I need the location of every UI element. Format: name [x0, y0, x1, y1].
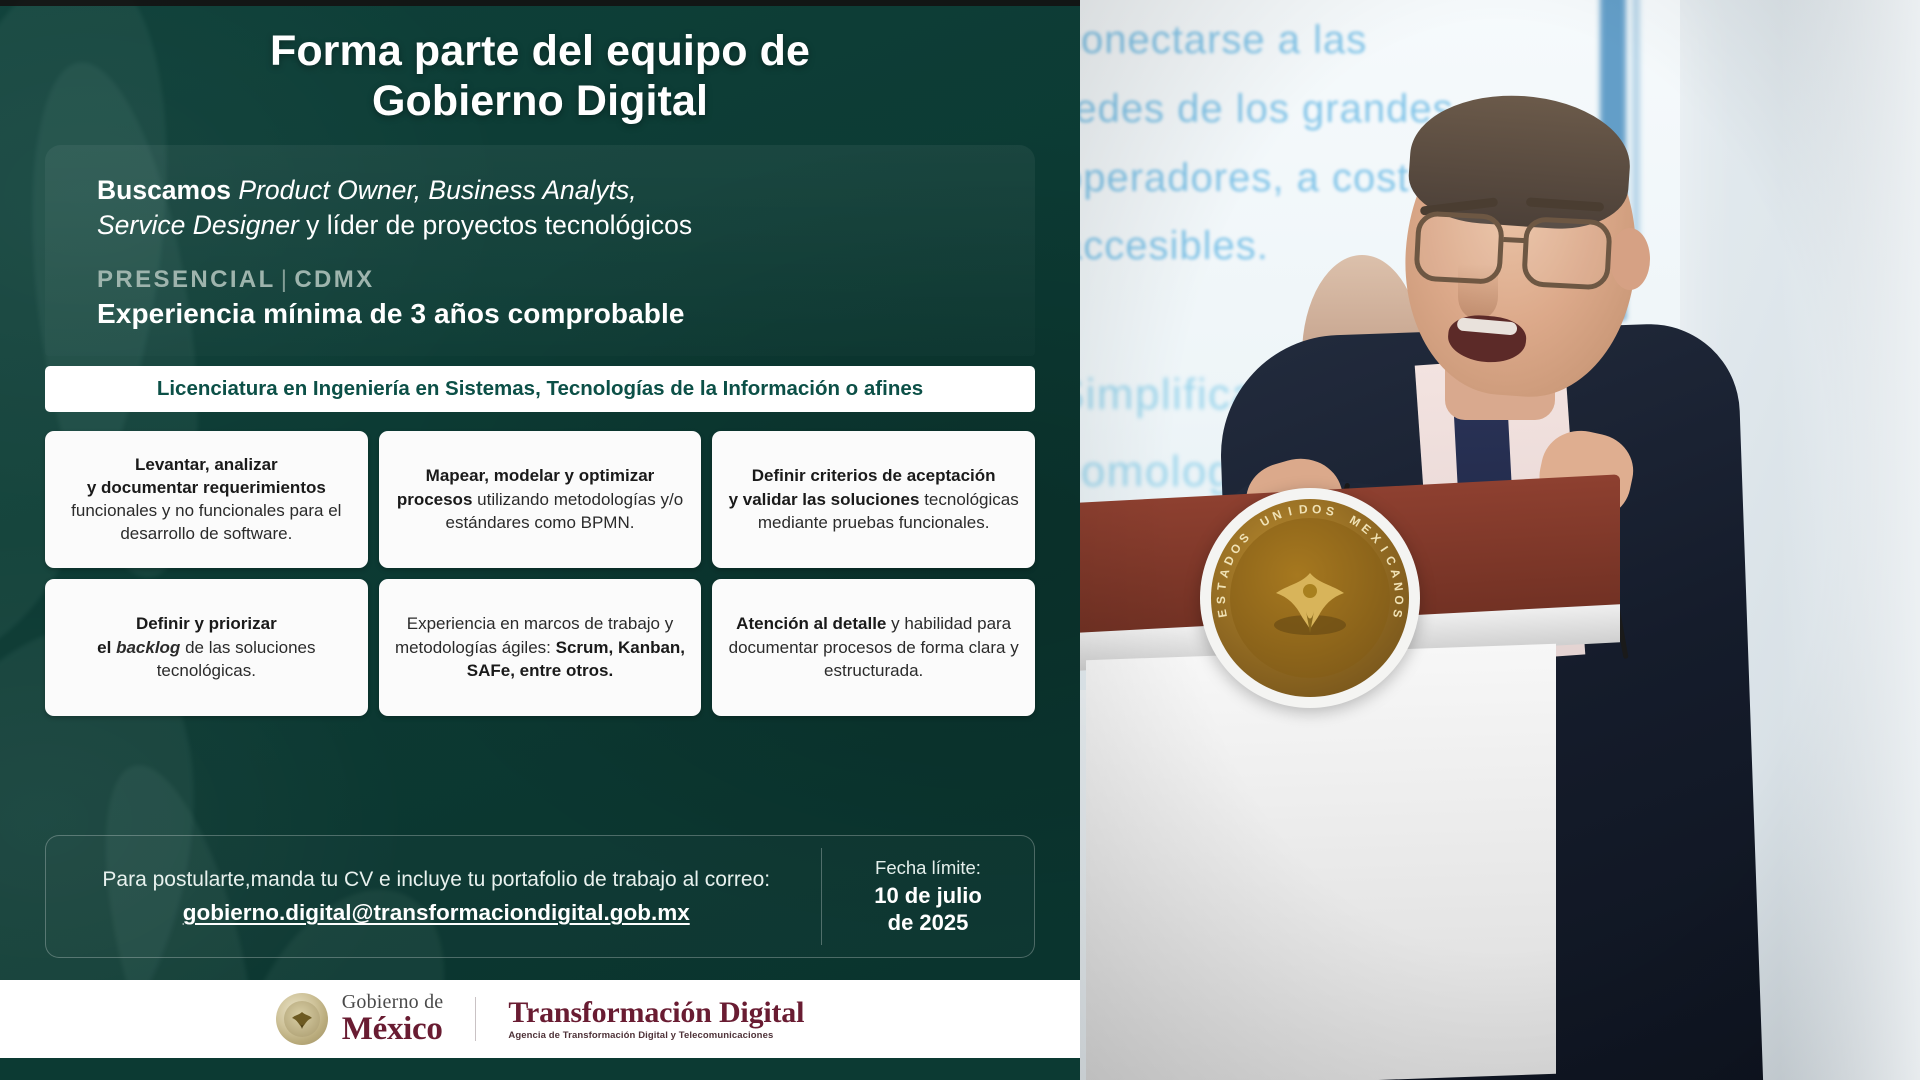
agency-subtitle: Agencia de Transformación Digital y Tele… — [508, 1031, 804, 1041]
modality-row: PRESENCIAL|CDMX — [97, 266, 983, 294]
roles-italic-1: Product Owner, Business Analyts, — [238, 175, 636, 205]
podium-seal-text: ESTADOS UNIDOS MEXICANOS — [1213, 501, 1407, 695]
podium-base — [1086, 644, 1556, 1080]
contact-instruction: Para postularte,manda tu CV e incluye tu… — [70, 866, 803, 894]
card-bold-1: Mapear, modelar y optimizar — [426, 466, 655, 485]
card-bold-2: y documentar requerimientos — [87, 478, 326, 497]
contact-message: Para postularte,manda tu CV e incluye tu… — [46, 836, 821, 957]
card-bold-1: Definir y priorizar — [136, 614, 277, 633]
application-email-link[interactable]: gobierno.digital@transformaciondigital.g… — [70, 900, 803, 926]
eyeglasses-icon — [1413, 210, 1631, 291]
gob-line-1: Gobierno de — [342, 992, 444, 1012]
contact-section: Para postularte,manda tu CV e incluye tu… — [45, 835, 1035, 980]
contact-box: Para postularte,manda tu CV e incluye tu… — [45, 835, 1035, 958]
seeking-label: Buscamos — [97, 175, 231, 205]
title-line-2: Gobierno Digital — [372, 77, 708, 125]
degree-requirement-bar: Licenciatura en Ingeniería en Sistemas, … — [45, 366, 1035, 412]
deadline-date-line-1: 10 de julio — [874, 883, 982, 908]
card-rest: utilizando metodologías y/o estándares c… — [446, 490, 684, 532]
deadline-date: 10 de julio de 2025 — [832, 882, 1024, 937]
card-text: Atención al detalle y habilidad para doc… — [728, 612, 1019, 681]
responsibility-card: Atención al detalle y habilidad para doc… — [712, 579, 1035, 716]
agency-wordmark: Transformación Digital Agencia de Transf… — [508, 997, 804, 1041]
podium-seal: ESTADOS UNIDOS MEXICANOS — [1200, 488, 1420, 708]
eagle-glyph-icon — [289, 1009, 315, 1031]
poster-body: Buscamos Product Owner, Business Analyts… — [0, 145, 1080, 980]
deadline-block: Fecha límite: 10 de julio de 2025 — [822, 836, 1034, 957]
card-bold-2: procesos — [397, 490, 473, 509]
gob-line-2: México — [342, 1013, 444, 1046]
modality-separator: | — [276, 266, 295, 293]
card-text: Levantar, analizar y documentar requerim… — [61, 453, 352, 545]
gobierno-de-mexico-wordmark: Gobierno de México — [342, 992, 444, 1046]
roles-rest: y líder de proyectos tecnológicos — [306, 210, 692, 240]
agency-title: Transformación Digital — [508, 997, 804, 1029]
responsibility-card: Levantar, analizar y documentar requerim… — [45, 431, 368, 568]
card-text: Experiencia en marcos de trabajo y metod… — [395, 612, 686, 681]
responsibility-card: Experiencia en marcos de trabajo y metod… — [379, 579, 702, 716]
footer-logo-row: Gobierno de México Transformación Digita… — [276, 992, 804, 1046]
poster-header: Forma parte del equipo de Gobierno Digit… — [0, 0, 1080, 145]
press-conference-photo: conectarse a las redes de los grandes op… — [1080, 0, 1920, 1080]
poster-footer: Gobierno de México Transformación Digita… — [0, 980, 1080, 1058]
podium: ESTADOS UNIDOS MEXICANOS — [1080, 480, 1660, 1080]
card-text: Mapear, modelar y optimizar procesos uti… — [395, 464, 686, 533]
card-text: Definir y priorizar el backlog de las so… — [61, 612, 352, 681]
responsibility-card: Definir y priorizar el backlog de las so… — [45, 579, 368, 716]
job-poster: Forma parte del equipo de Gobierno Digit… — [0, 0, 1080, 1080]
location-label: CDMX — [294, 266, 374, 293]
roles-italic-2: Service Designer — [97, 210, 299, 240]
modality-label: PRESENCIAL — [97, 266, 276, 293]
nose — [1458, 264, 1498, 318]
card-bold-1: Levantar, analizar — [135, 455, 278, 474]
seeking-panel: Buscamos Product Owner, Business Analyts… — [45, 145, 1035, 356]
logo-divider — [475, 997, 476, 1041]
deadline-date-line-2: de 2025 — [888, 910, 969, 935]
card-rest: de las soluciones tecnológicas. — [157, 638, 316, 680]
card-bold-2: el — [97, 638, 111, 657]
title-line-1: Forma parte del equipo de — [270, 27, 810, 75]
responsibility-card: Mapear, modelar y optimizar procesos uti… — [379, 431, 702, 568]
card-italic: backlog — [116, 638, 180, 657]
screenshot-root: Forma parte del equipo de Gobierno Digit… — [0, 0, 1920, 1080]
card-bold-2: y validar las soluciones — [729, 490, 920, 509]
responsibility-card: Definir criterios de aceptación y valida… — [712, 431, 1035, 568]
page-title: Forma parte del equipo de Gobierno Digit… — [90, 26, 990, 127]
poster-bottom-bar — [0, 1058, 1080, 1080]
card-rest: funcionales y no funcionales para el des… — [71, 501, 341, 543]
roles-text: Buscamos Product Owner, Business Analyts… — [97, 173, 983, 244]
top-edge-bar — [0, 0, 1080, 6]
mexican-coat-of-arms-icon — [276, 993, 328, 1045]
experience-requirement: Experiencia mínima de 3 años comprobable — [97, 298, 983, 330]
degree-requirement-text: Licenciatura en Ingeniería en Sistemas, … — [157, 377, 923, 400]
deadline-label: Fecha límite: — [832, 856, 1024, 880]
card-bold-1: Atención al detalle — [736, 614, 886, 633]
card-text: Definir criterios de aceptación y valida… — [728, 464, 1019, 533]
card-bold-1: Definir criterios de aceptación — [752, 466, 996, 485]
responsibility-cards-grid: Levantar, analizar y documentar requerim… — [45, 431, 1035, 716]
